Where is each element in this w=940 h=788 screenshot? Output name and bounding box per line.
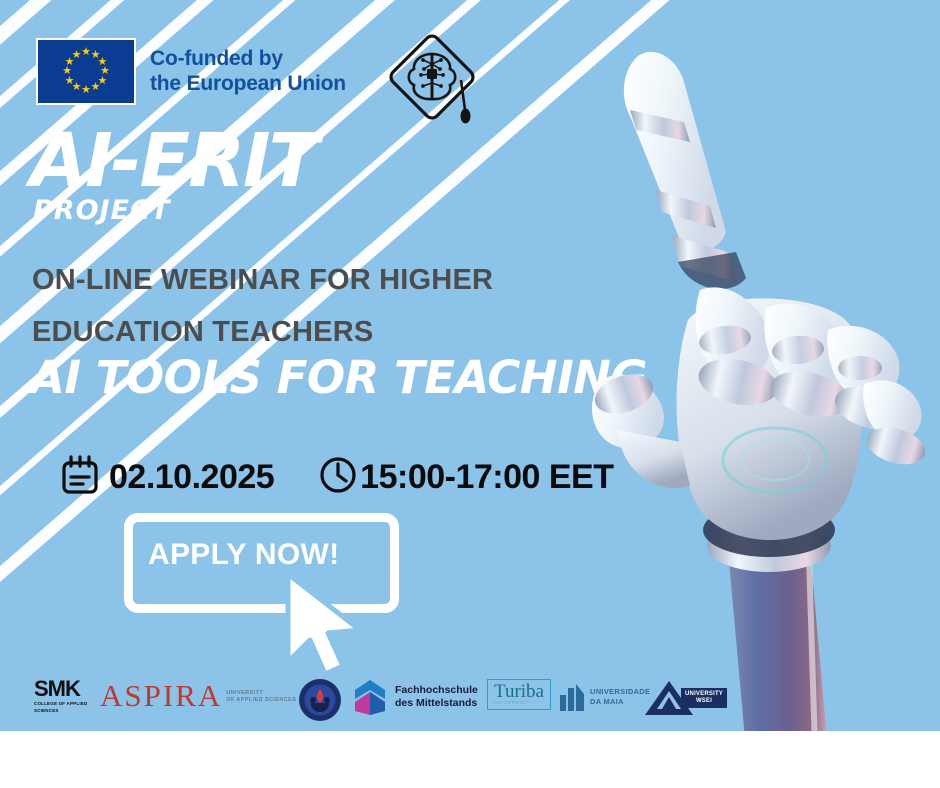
- partner-logo-university-wsei: UNIVERSITY WSEI: [643, 679, 727, 717]
- maia-name-line2: DA MAIA: [590, 697, 650, 707]
- webinar-headline-line1: ON-LINE WEBINAR FOR HIGHER: [32, 266, 493, 295]
- wsei-name-line1: UNIVERSITY: [685, 691, 723, 698]
- partner-logo-universidade-da-maia: UNIVERSIDADE DA MAIA: [559, 682, 650, 712]
- smk-wordmark: SMK: [34, 678, 80, 700]
- partner-logos-strip: SMK COLLEGE OF APPLIED SCIENCES ASPIRA U…: [0, 676, 940, 722]
- eu-flag-star: ★: [71, 50, 82, 61]
- eu-flag-star: ★: [81, 85, 92, 96]
- clock-icon: [316, 453, 360, 502]
- eu-funding-block: ★★★★★★★★★★★★ Co-funded by the European U…: [36, 38, 346, 105]
- aspira-tagline-line1: UNIVERSITY: [226, 690, 296, 697]
- eu-funding-line2: the European Union: [150, 72, 346, 96]
- fhm-name-line2: des Mittelstands: [395, 697, 478, 710]
- fhm-house-icon: [352, 677, 388, 717]
- eu-funding-line1: Co-funded by: [150, 47, 346, 71]
- apply-now-label[interactable]: APPLY NOW!: [148, 538, 339, 572]
- eu-flag-star: ★: [90, 82, 101, 93]
- graduation-cap-brain-logo: [383, 28, 493, 138]
- aspira-tagline-line2: OF APPLIED SCIENCES: [226, 697, 296, 704]
- event-details-row: 02.10.2025 15:00-17:00 EET: [57, 452, 613, 503]
- calendar-icon: [57, 452, 103, 503]
- eu-flag-star: ★: [62, 66, 73, 77]
- aspira-wordmark: ASPIRA: [100, 680, 222, 711]
- partner-logo-fachhochschule-des-mittelstands: Fachhochschule des Mittelstands: [352, 677, 478, 717]
- poster-canvas: ★★★★★★★★★★★★ Co-funded by the European U…: [0, 0, 940, 788]
- partner-logo-aspira: ASPIRA UNIVERSITY OF APPLIED SCIENCES: [100, 680, 296, 711]
- maia-name-line1: UNIVERSIDADE: [590, 687, 650, 697]
- european-union-flag: ★★★★★★★★★★★★: [36, 38, 136, 105]
- mouse-cursor-icon: [280, 570, 390, 680]
- eu-funding-text: Co-funded by the European Union: [150, 47, 346, 96]
- project-title: AI-ERIT: [30, 124, 317, 198]
- event-date: 02.10.2025: [109, 458, 274, 497]
- partner-logo-turiba: Turiba UNIVERSITY: [487, 679, 551, 710]
- webinar-main-title: AI TOOLS FOR TEACHING: [30, 355, 647, 400]
- turiba-wordmark: Turiba: [494, 682, 544, 701]
- partner-logo-bahcesehir-university: [298, 678, 342, 722]
- robotic-hand-pointing-up: [560, 0, 940, 731]
- poster-background: ★★★★★★★★★★★★ Co-funded by the European U…: [0, 0, 940, 731]
- smk-tagline-line1: COLLEGE OF APPLIED: [34, 701, 87, 707]
- project-subtitle: PROJECT: [33, 197, 170, 224]
- webinar-headline-line2: EDUCATION TEACHERS: [32, 318, 373, 347]
- smk-tagline-line2: SCIENCES: [34, 708, 59, 714]
- wsei-name-line2: WSEI: [685, 698, 723, 705]
- eu-flag-star: ★: [64, 76, 75, 87]
- maia-bars-icon: [559, 682, 585, 712]
- partner-logo-smk: SMK COLLEGE OF APPLIED SCIENCES: [34, 678, 87, 713]
- fhm-name-line1: Fachhochschule: [395, 684, 478, 697]
